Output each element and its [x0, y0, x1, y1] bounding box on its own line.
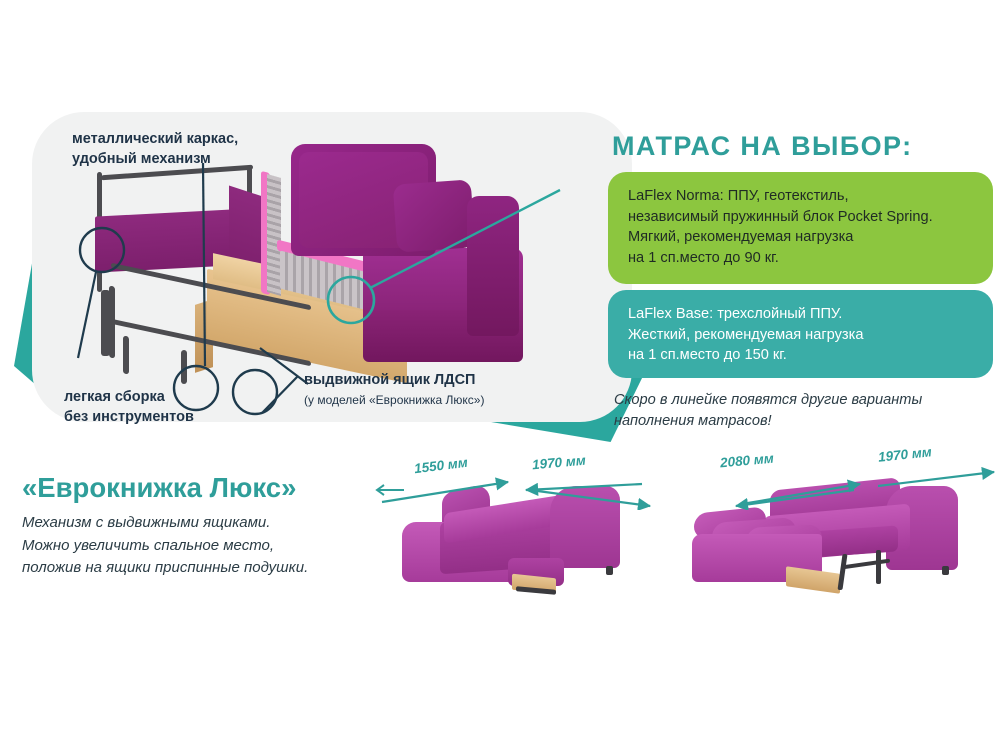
leader-line-drawer-seg — [260, 348, 308, 384]
unfolded-frame-rail — [842, 559, 890, 570]
callout-label-metal-frame: металлический каркас, удобный механизм — [72, 130, 238, 169]
unfolded-frame-leg-a — [837, 554, 847, 590]
mattress-option-text-norma: LaFlex Norma: ППУ, геотекстиль, независи… — [628, 186, 975, 269]
callout-label-drawer: выдвижной ящик ЛДСП — [304, 371, 475, 391]
callout-sublabel-drawer: (у моделей «Еврокнижка Люкс») — [304, 392, 484, 408]
folded-leg-right — [606, 566, 613, 575]
mattress-soon-note: Скоро в линейке появятся другие варианты… — [614, 390, 1000, 432]
unfolded-leg-right — [942, 566, 949, 575]
leader-line-assembly-a — [78, 272, 96, 358]
mechanism-title: «Еврокнижка Люкс» — [22, 472, 296, 504]
mechanism-description: Механизм с выдвижными ящиками. Можно уве… — [22, 512, 382, 580]
mattress-option-laflex-norma: LaFlex Norma: ППУ, геотекстиль, независи… — [608, 172, 993, 284]
arrow-2080-a — [736, 490, 854, 506]
leader-line-drawer-lower — [250, 340, 370, 400]
arrow-1970-right — [878, 472, 994, 486]
arrow-1550 — [382, 482, 508, 502]
leader-line-mattress — [370, 190, 560, 288]
callout-label-easy-assembly: легкая сборка без инструментов — [64, 388, 194, 427]
unfolded-frame-leg-b — [876, 550, 881, 584]
arrow-2080-b — [742, 484, 860, 504]
infographic-stage: металлический каркас, удобный механизм л… — [0, 0, 1000, 750]
arrow-1970-left-a — [526, 484, 642, 490]
leader-line-frame — [203, 163, 205, 366]
mattress-section-title: МАТРАС НА ВЫБОР: — [612, 131, 912, 162]
unfolded-drawer-wood — [786, 566, 840, 594]
mattress-option-text-base: LaFlex Base: трехслойный ППУ. Жесткий, р… — [628, 304, 975, 366]
arrow-1970-left-b — [530, 490, 650, 506]
mattress-option-laflex-base: LaFlex Base: трехслойный ППУ. Жесткий, р… — [608, 290, 993, 378]
callout-circle-mattress — [328, 277, 374, 323]
callout-circle-frame — [80, 228, 124, 272]
